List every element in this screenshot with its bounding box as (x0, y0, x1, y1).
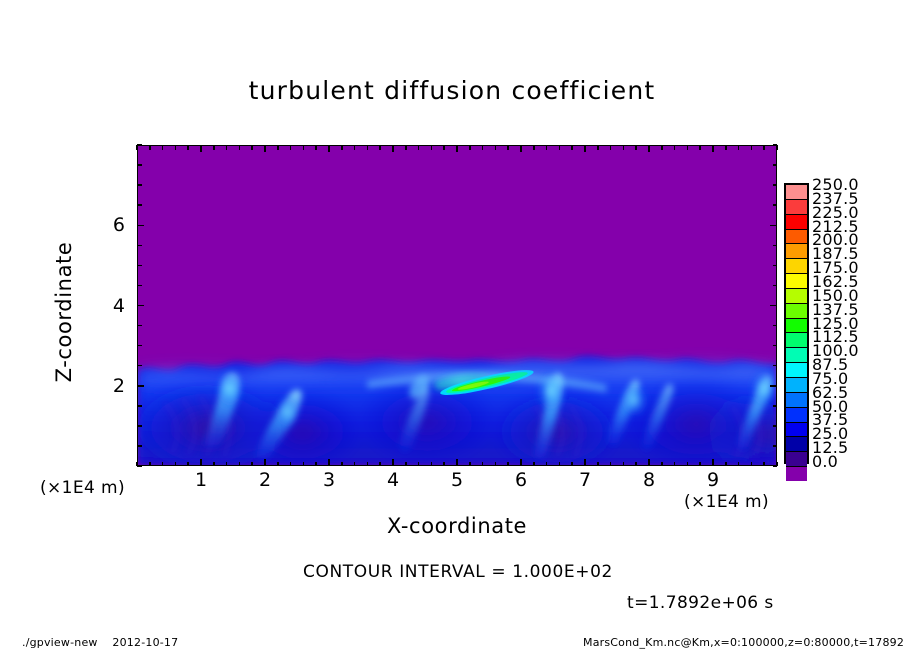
x-tick (239, 462, 241, 467)
x-tick-top (418, 145, 420, 150)
x-tick (584, 459, 586, 466)
x-tick (623, 462, 625, 467)
x-tick-top (725, 145, 727, 150)
colorbar-band (786, 436, 807, 451)
x-tick (507, 462, 509, 467)
colorbar-band (786, 332, 807, 347)
x-tick-top (431, 145, 433, 150)
x-tick (763, 462, 765, 467)
y-tick-right (773, 465, 778, 467)
x-tick-top (251, 145, 253, 150)
x-tick-top (699, 145, 701, 150)
y-tick (137, 265, 142, 267)
footer-source: MarsCond_Km.nc@Km,x=0:100000,z=0:80000,t… (583, 636, 904, 649)
colorbar-band (786, 214, 807, 229)
x-tick-top (610, 145, 612, 150)
figure-title: turbulent diffusion coefficient (0, 76, 904, 105)
x-tick (725, 462, 727, 467)
y-tick (137, 405, 142, 407)
colorbar-band (786, 451, 807, 466)
x-tick-top (597, 145, 599, 150)
y-tick (137, 345, 142, 347)
colorbar-band (786, 318, 807, 333)
x-tick-top (379, 145, 381, 150)
x-tick (495, 462, 497, 467)
x-tick (751, 462, 753, 467)
x-tick-top (571, 145, 573, 150)
y-tick (137, 184, 142, 186)
x-tick-top (328, 145, 330, 152)
x-tick (635, 462, 637, 467)
plot-area (137, 145, 777, 466)
x-tick-label: 4 (373, 469, 413, 491)
y-axis-unit: (×1E4 m) (40, 478, 125, 498)
x-tick-top (175, 145, 177, 150)
x-tick (213, 462, 215, 467)
y-tick (137, 245, 142, 247)
x-tick-top (559, 145, 561, 150)
x-tick (303, 462, 305, 467)
y-tick (137, 325, 142, 327)
x-tick-top (187, 145, 189, 150)
colorbar-label: 0.0 (812, 454, 838, 470)
x-tick-label: 6 (501, 469, 541, 491)
colorbar-band (786, 258, 807, 273)
y-tick-right (773, 345, 778, 347)
x-tick (559, 462, 561, 467)
x-tick-top (264, 145, 266, 152)
y-tick-right (773, 184, 778, 186)
y-tick (137, 365, 142, 367)
colorbar (784, 183, 809, 464)
y-tick-right (773, 285, 778, 287)
x-axis-title: X-coordinate (137, 514, 777, 538)
x-tick-top (303, 145, 305, 150)
x-tick (200, 459, 202, 466)
x-tick-top (315, 145, 317, 150)
x-tick (546, 462, 548, 467)
contour-interval-label: CONTOUR INTERVAL = 1.000E+02 (303, 562, 613, 582)
x-tick-top (239, 145, 241, 150)
footer-date-text: 2012-10-17 (112, 636, 178, 649)
colorbar-band (786, 273, 807, 288)
x-tick-top (712, 145, 714, 152)
colorbar-band (786, 407, 807, 422)
y-tick-right (773, 164, 778, 166)
x-tick-label: 1 (181, 469, 221, 491)
x-tick-top (661, 145, 663, 150)
x-tick-top (584, 145, 586, 152)
y-tick (137, 425, 142, 427)
x-tick-top (213, 145, 215, 150)
x-tick-top (392, 145, 394, 152)
y-tick-label: 2 (97, 375, 125, 397)
x-tick-top (635, 145, 637, 150)
colorbar-band (786, 185, 807, 199)
y-tick-label: 4 (97, 295, 125, 317)
x-tick-label: 9 (693, 469, 733, 491)
x-tick-top (341, 145, 343, 150)
x-tick-top (495, 145, 497, 150)
y-tick (137, 225, 144, 227)
colorbar-band (786, 199, 807, 214)
colorbar-band (786, 243, 807, 258)
figure-canvas: turbulent diffusion coefficient (0, 0, 904, 654)
x-tick-top (546, 145, 548, 150)
x-tick (443, 462, 445, 467)
time-stamp-label: t=1.7892e+06 s (627, 593, 774, 613)
x-tick (290, 462, 292, 467)
x-tick (277, 462, 279, 467)
x-tick-top (456, 145, 458, 152)
x-tick (571, 462, 573, 467)
x-tick-top (507, 145, 509, 150)
y-tick-right (773, 204, 778, 206)
y-tick (137, 445, 142, 447)
colorbar-band (786, 229, 807, 244)
x-tick (520, 459, 522, 466)
x-tick-label: 2 (245, 469, 285, 491)
x-tick-top (226, 145, 228, 150)
x-tick-top (277, 145, 279, 150)
y-tick-right (770, 385, 777, 387)
x-tick-top (648, 145, 650, 152)
x-tick (175, 462, 177, 467)
y-tick-right (773, 245, 778, 247)
y-tick-right (770, 305, 777, 307)
x-tick (315, 462, 317, 467)
x-tick-top (674, 145, 676, 150)
x-tick (162, 462, 164, 467)
y-tick-right (773, 445, 778, 447)
x-tick-top (405, 145, 407, 150)
y-tick-right (770, 225, 777, 227)
x-tick-top (623, 145, 625, 150)
y-tick (137, 144, 142, 146)
x-tick-top (200, 145, 202, 152)
colorbar-band (786, 362, 807, 377)
x-tick (264, 459, 266, 466)
x-tick (482, 462, 484, 467)
x-tick-top (469, 145, 471, 150)
y-tick-right (773, 405, 778, 407)
x-tick (367, 462, 369, 467)
colorbar-band (786, 303, 807, 318)
x-tick (533, 462, 535, 467)
x-tick-top (482, 145, 484, 150)
x-tick-top (354, 145, 356, 150)
x-tick (418, 462, 420, 467)
colorbar-band (786, 392, 807, 407)
x-tick (687, 462, 689, 467)
x-tick-label: 8 (629, 469, 669, 491)
y-tick (137, 305, 144, 307)
x-tick (469, 462, 471, 467)
x-tick (392, 459, 394, 466)
x-tick-top (162, 145, 164, 150)
x-tick (149, 462, 151, 467)
x-tick-top (738, 145, 740, 150)
x-tick-label: 7 (565, 469, 605, 491)
x-tick (354, 462, 356, 467)
x-tick (405, 462, 407, 467)
y-axis-title: Z-coordinate (52, 217, 76, 407)
x-tick-label: 5 (437, 469, 477, 491)
x-tick (738, 462, 740, 467)
colorbar-band (786, 377, 807, 392)
footer-command: ./gpview-new 2012-10-17 (22, 636, 178, 649)
x-axis-unit: (×1E4 m) (684, 492, 769, 512)
x-tick (610, 462, 612, 467)
y-tick (137, 285, 142, 287)
x-tick-top (367, 145, 369, 150)
footer-command-text: ./gpview-new (22, 636, 98, 649)
x-tick (674, 462, 676, 467)
y-tick (137, 204, 142, 206)
y-tick-right (773, 425, 778, 427)
y-tick (137, 164, 142, 166)
x-tick (328, 459, 330, 466)
x-tick (431, 462, 433, 467)
x-tick-top (763, 145, 765, 150)
diffusion-coefficient-field (138, 146, 776, 465)
x-tick (597, 462, 599, 467)
x-tick (699, 462, 701, 467)
x-tick (661, 462, 663, 467)
colorbar-tick-labels: 250.0237.5225.0212.5200.0187.5175.0162.5… (812, 183, 904, 464)
x-tick (648, 459, 650, 466)
y-tick (137, 465, 142, 467)
x-tick (379, 462, 381, 467)
y-tick-right (773, 365, 778, 367)
x-tick-top (290, 145, 292, 150)
x-tick (712, 459, 714, 466)
y-tick-right (773, 265, 778, 267)
colorbar-band (786, 288, 807, 303)
y-tick-label: 6 (97, 214, 125, 236)
x-tick (226, 462, 228, 467)
x-tick (456, 459, 458, 466)
x-tick-top (533, 145, 535, 150)
x-tick-top (687, 145, 689, 150)
colorbar-band (786, 466, 807, 481)
x-tick-label: 3 (309, 469, 349, 491)
y-tick-right (773, 144, 778, 146)
colorbar-band (786, 422, 807, 437)
x-tick-top (520, 145, 522, 152)
x-tick (187, 462, 189, 467)
x-tick-top (751, 145, 753, 150)
x-tick-top (149, 145, 151, 150)
x-tick (341, 462, 343, 467)
y-tick-right (773, 325, 778, 327)
x-tick-top (443, 145, 445, 150)
colorbar-band (786, 347, 807, 362)
x-tick (251, 462, 253, 467)
y-tick (137, 385, 144, 387)
